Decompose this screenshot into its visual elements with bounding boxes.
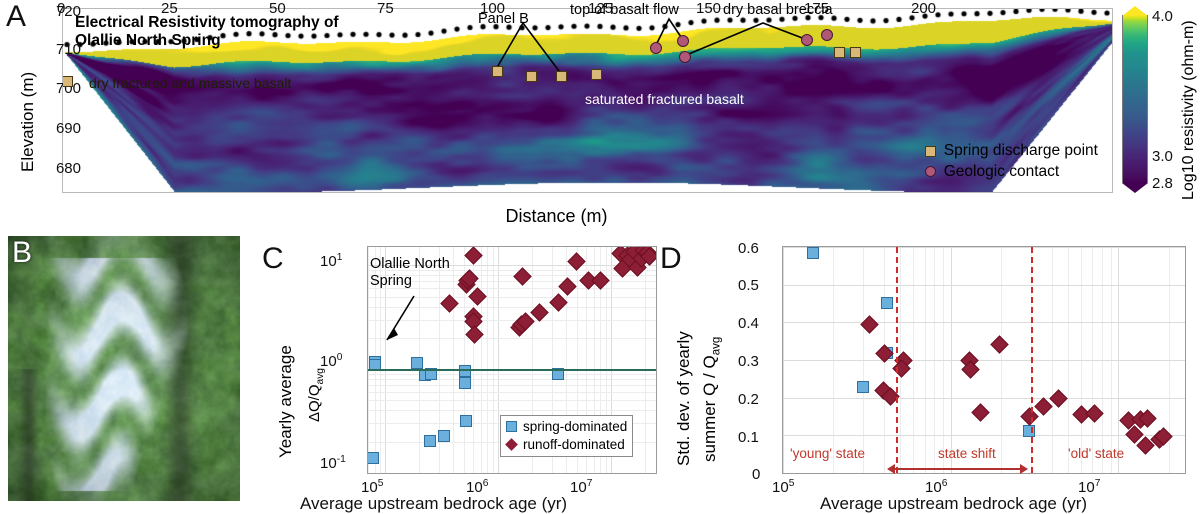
panel-a-xlabel: Distance (m) (0, 206, 1113, 227)
spring-discharge-marker (834, 47, 845, 58)
panel-a-xtick: 75 (377, 0, 394, 17)
gridline-horizontal (783, 285, 1185, 286)
gridline-horizontal (368, 410, 656, 411)
legend-label-spring: Spring discharge point (944, 141, 1098, 161)
figure-root: A Electrical Resistivity tomography of O… (0, 0, 1200, 509)
annotation-panel-b: Panel B (478, 11, 529, 27)
panel-c-ytick: 101 (320, 252, 342, 270)
panel-d-xlabel: Average upstream bedrock age (yr) (820, 494, 1087, 514)
state-shift-arrow-right-icon (1020, 464, 1028, 474)
panel-a-xtick: 150 (696, 0, 721, 17)
data-point-runoff-dominated (990, 336, 1008, 354)
spring-discharge-marker (850, 47, 861, 58)
panel-a-xtick: 0 (57, 0, 65, 17)
gridline-horizontal (783, 247, 1185, 248)
data-point-spring-dominated (438, 430, 450, 442)
panel-d-ytick: 0.5 (738, 277, 759, 294)
panel-d-letter: D (660, 244, 682, 274)
panel-d-ylabel-line1: Std. dev. of yearly (674, 331, 694, 466)
data-point-spring-dominated (459, 377, 471, 389)
spring-discharge-marker (492, 66, 503, 77)
state-shift-arrow-left-icon (887, 464, 895, 474)
data-point-spring-dominated (367, 452, 379, 464)
legend-label-contact: Geologic contact (944, 162, 1059, 182)
gridline-horizontal (783, 435, 1185, 436)
panel-c: C Yearly average ΔQ/Qavg 101 100 10-1 10… (262, 232, 662, 509)
data-point-spring-dominated (857, 381, 869, 393)
data-point-spring-dominated (459, 365, 471, 377)
panel-d-ytick: 0.3 (738, 353, 759, 370)
legend-label-spring-dominated: spring-dominated (523, 418, 627, 436)
data-point-spring-dominated (881, 297, 893, 309)
gridline-horizontal (368, 385, 656, 386)
resistivity-tomogram: Electrical Resistivity tomography of Ola… (62, 8, 1113, 193)
data-point-runoff-dominated (1085, 404, 1103, 422)
geologic-contact-marker (677, 35, 689, 47)
panel-a: A Electrical Resistivity tomography of O… (0, 0, 1200, 228)
annotation-breccia: dry basal breccia (723, 2, 833, 18)
panel-d-ytick: 0 (752, 466, 760, 483)
panel-a-ytick: 680 (56, 160, 81, 177)
legend-row-spring: Spring discharge point (925, 141, 1098, 161)
panel-d-xtick: 105 (772, 478, 794, 496)
waterfall-photo (8, 236, 240, 501)
spring-swatch-icon (925, 146, 936, 157)
state-boundary-line (896, 247, 898, 473)
colorbar-tick: 2.8 (1152, 175, 1173, 192)
contact-swatch-icon (925, 166, 936, 177)
panel-a-title-line2: Olallie North Spring (75, 32, 339, 50)
gridline-horizontal (783, 398, 1185, 399)
panel-c-annotation-line2: Spring (370, 273, 450, 290)
spring-discharge-marker (526, 71, 537, 82)
geologic-contact-marker (821, 29, 833, 41)
runoff-dominated-swatch-icon (505, 438, 518, 451)
region-label-young: 'young' state (790, 446, 865, 461)
panel-c-ytick: 10-1 (320, 454, 346, 472)
region-label-old: 'old' state (1068, 446, 1124, 461)
legend-row-spring-dominated: spring-dominated (506, 418, 627, 436)
panel-a-ytick: 690 (56, 120, 81, 137)
gridline-horizontal (368, 297, 656, 298)
legend-row-runoff-dominated: runoff-dominated (506, 436, 627, 454)
region-label-shift: state shift (938, 446, 996, 461)
gridline-horizontal (368, 338, 656, 339)
gridline-horizontal (368, 320, 656, 321)
panel-c-annotation-line1: Olallie North (370, 256, 450, 273)
panel-a-letter: A (6, 2, 26, 32)
gridline-horizontal (368, 400, 656, 401)
annotation-basalt-flow: top of basalt flow (570, 2, 679, 18)
panel-c-ylabel-sub: ΔQ/Qavg (306, 368, 326, 422)
gridline-horizontal (368, 379, 656, 380)
gridline-horizontal (783, 322, 1185, 323)
state-shift-arrow-line (895, 468, 1020, 470)
panel-d-ytick: 0.4 (738, 315, 759, 332)
panel-a-title-line1: Electrical Resistivity tomography of (75, 14, 339, 32)
data-point-runoff-dominated (971, 404, 989, 422)
gridline-horizontal (368, 307, 656, 308)
gridline-horizontal (783, 360, 1185, 361)
reference-line-q1 (368, 369, 656, 370)
panel-b: B (8, 236, 253, 501)
panel-c-ylabel-main: Yearly average (276, 345, 296, 458)
data-point-spring-dominated (1023, 425, 1035, 437)
colorbar-tick: 4.0 (1152, 8, 1173, 25)
panel-c-legend: spring-dominated runoff-dominated (500, 415, 633, 457)
spring-discharge-marker (556, 71, 567, 82)
panel-a-legend: Spring discharge point Geologic contact (925, 141, 1098, 182)
legend-label-runoff-dominated: runoff-dominated (523, 436, 625, 454)
panel-c-xtick: 107 (570, 478, 592, 496)
gridline-horizontal (368, 374, 656, 375)
state-boundary-line (1031, 247, 1033, 473)
geologic-contact-marker (650, 42, 662, 54)
spring-dominated-swatch-icon (506, 421, 517, 432)
colorbar-title: Log10 resistivity (ohm-m) (1180, 20, 1198, 200)
panel-d-ytick: 0.6 (738, 240, 759, 257)
panel-d-plot-area (782, 246, 1186, 474)
panel-a-title: Electrical Resistivity tomography of Ola… (75, 14, 339, 50)
spring-discharge-marker (591, 69, 602, 80)
panel-d-ylabel-line2: summer Q / Qavg (700, 337, 722, 462)
waterfall-photo-canvas (8, 236, 240, 501)
panel-d-ytick: 0.1 (738, 429, 759, 446)
geologic-contact-marker (801, 34, 813, 46)
colorbar-tick: 3.0 (1152, 148, 1173, 165)
colorbar-gradient (1122, 15, 1148, 183)
data-point-spring-dominated (424, 435, 436, 447)
data-point-runoff-dominated (567, 253, 585, 271)
data-point-spring-dominated (460, 415, 472, 427)
gridline-horizontal (783, 473, 1185, 474)
colorbar: 4.0 3.0 2.8 (1122, 6, 1154, 192)
panel-c-letter: C (262, 244, 284, 274)
colorbar-cap-low (1122, 183, 1148, 193)
panel-c-annotation: Olallie North Spring (370, 256, 450, 291)
spring-discharge-marker (62, 76, 73, 87)
geologic-contact-marker (679, 51, 691, 63)
data-point-runoff-dominated (1020, 407, 1038, 425)
panel-d-ytick: 0.2 (738, 391, 759, 408)
legend-row-contact: Geologic contact (925, 162, 1098, 182)
gridline-horizontal (368, 392, 656, 393)
panel-a-xtick: 200 (911, 0, 936, 17)
data-point-spring-dominated (411, 357, 423, 369)
panel-d: D Std. dev. of yearly summer Q / Qavg 0.… (660, 232, 1200, 509)
label-dry-basalt: dry fractured and massive basalt (89, 75, 291, 91)
panel-c-xlabel: Average upstream bedrock age (yr) (300, 494, 567, 514)
data-point-runoff-dominated (469, 287, 487, 305)
data-point-runoff-dominated (558, 277, 576, 295)
gridline-horizontal (368, 473, 656, 474)
panel-b-letter: B (12, 238, 32, 268)
data-point-spring-dominated (807, 247, 819, 259)
panel-c-ytick: 100 (320, 352, 342, 370)
label-saturated-basalt: saturated fractured basalt (585, 91, 744, 107)
data-point-runoff-dominated (464, 246, 482, 264)
panel-a-ylabel: Elevation (m) (18, 72, 38, 172)
